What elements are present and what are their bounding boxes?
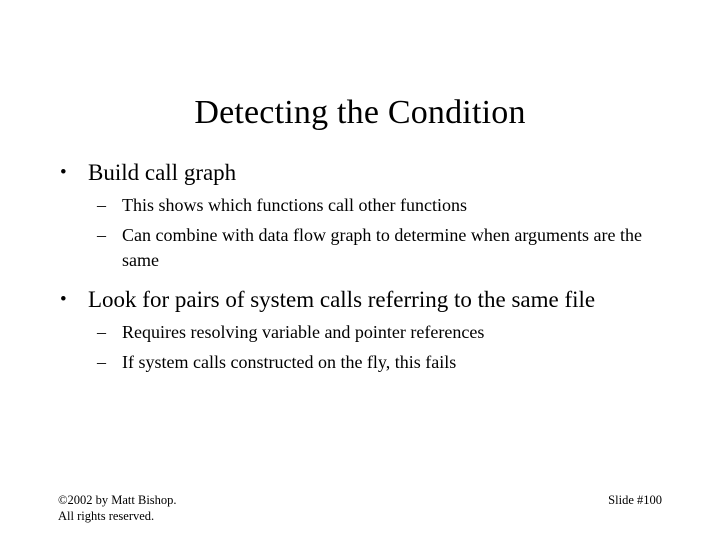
footer-copyright-line1: ©2002 by Matt Bishop. [58,492,177,508]
footer-copyright-line2: All rights reserved. [58,508,177,524]
bullet-group: • Build call graph – This shows which fu… [58,158,662,273]
bullet-level1: • Build call graph [58,158,662,188]
bullet-level2: – Requires resolving variable and pointe… [58,320,662,345]
bullet-level1-text: Build call graph [88,158,662,188]
bullet-level2-text: If system calls constructed on the fly, … [122,350,662,375]
bullet-level1: • Look for pairs of system calls referri… [58,285,662,315]
bullet-dot-icon: • [60,158,67,188]
bullet-dash-icon: – [97,320,106,345]
bullet-level2-text: Requires resolving variable and pointer … [122,320,662,345]
slide-canvas: Detecting the Condition • Build call gra… [0,0,720,540]
bullet-level2: – This shows which functions call other … [58,193,662,218]
footer-slide-number-area: Slide #100 [608,492,662,508]
slide-body: • Build call graph – This shows which fu… [58,158,662,379]
bullet-level1-text: Look for pairs of system calls referring… [88,285,662,315]
bullet-level2: – Can combine with data flow graph to de… [58,223,662,273]
footer-slide-number: Slide #100 [608,492,662,508]
bullet-dot-icon: • [60,285,67,315]
footer-copyright: ©2002 by Matt Bishop. All rights reserve… [58,492,177,524]
bullet-dash-icon: – [97,193,106,218]
bullet-level2-text: Can combine with data flow graph to dete… [122,223,662,273]
bullet-level2-text: This shows which functions call other fu… [122,193,662,218]
bullet-dash-icon: – [97,350,106,375]
bullet-group: • Look for pairs of system calls referri… [58,285,662,375]
bullet-level2: – If system calls constructed on the fly… [58,350,662,375]
page-title: Detecting the Condition [0,93,720,133]
bullet-dash-icon: – [97,223,106,248]
